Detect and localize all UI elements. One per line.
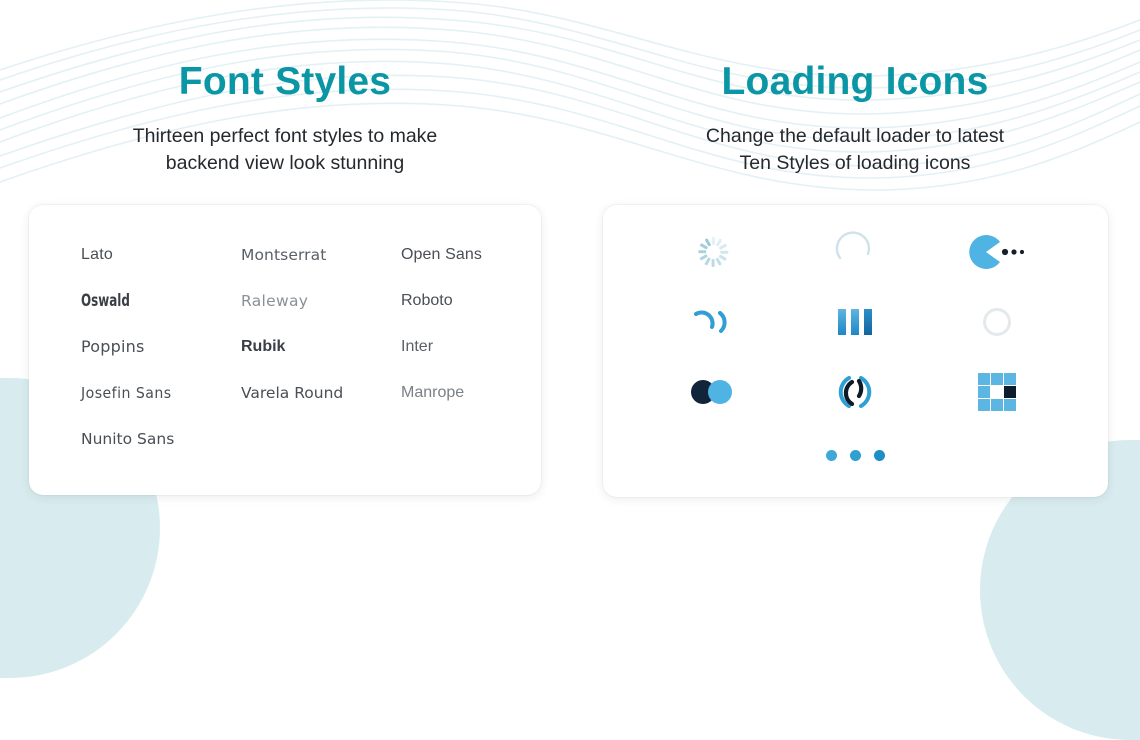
loader-option-three-dots[interactable] bbox=[603, 427, 1108, 485]
font-item-poppins[interactable]: Poppins bbox=[81, 335, 241, 359]
font-item-oswald[interactable]: Oswald bbox=[81, 289, 206, 313]
loader-list bbox=[603, 217, 1108, 427]
font-item-inter[interactable]: Inter bbox=[401, 335, 489, 359]
panel-subtitle-loading-icons: Change the default loader to latest Ten … bbox=[706, 105, 1004, 177]
loader-option-ring[interactable] bbox=[967, 292, 1027, 352]
subtitle-line-2: backend view look stunning bbox=[133, 150, 438, 177]
font-list: Lato Montserrat Open Sans Oswald Raleway… bbox=[81, 243, 489, 451]
font-item-raleway[interactable]: Raleway bbox=[241, 289, 401, 313]
parentheses-arc-icon bbox=[835, 372, 875, 412]
subtitle-line-2: Ten Styles of loading icons bbox=[706, 150, 1004, 177]
font-item-manrope[interactable]: Manrope bbox=[401, 381, 489, 405]
two-circles-icon bbox=[691, 380, 735, 404]
loader-option-grid[interactable] bbox=[967, 362, 1027, 422]
font-item-lato[interactable]: Lato bbox=[81, 243, 241, 267]
page-title-loading-icons: Loading Icons bbox=[722, 0, 989, 105]
font-item-rubik[interactable]: Rubik bbox=[241, 335, 401, 359]
font-styles-card: Lato Montserrat Open Sans Oswald Raleway… bbox=[29, 205, 541, 495]
panel-loading-icons: Loading Icons Change the default loader … bbox=[570, 0, 1140, 578]
font-item-montserrat[interactable]: Montserrat bbox=[241, 243, 401, 267]
loader-option-spinner[interactable] bbox=[683, 222, 743, 282]
pacman-icon bbox=[969, 235, 1025, 269]
subtitle-line-1: Change the default loader to latest bbox=[706, 125, 1004, 147]
font-item-roboto[interactable]: Roboto bbox=[401, 289, 489, 313]
font-item-josefin-sans[interactable]: Josefin Sans bbox=[81, 381, 231, 405]
loader-option-bars[interactable] bbox=[825, 292, 885, 352]
font-item-open-sans[interactable]: Open Sans bbox=[401, 243, 489, 267]
arc-circle-icon bbox=[835, 232, 875, 272]
three-dots-icon bbox=[826, 450, 885, 461]
font-item-nunito-sans[interactable]: Nunito Sans bbox=[81, 427, 241, 451]
loader-option-pacman[interactable] bbox=[967, 222, 1027, 282]
dual-arc-icon bbox=[690, 305, 736, 339]
loader-option-arc[interactable] bbox=[825, 222, 885, 282]
bars-icon bbox=[838, 309, 872, 335]
loader-option-parentheses[interactable] bbox=[825, 362, 885, 422]
page-root: Font Styles Thirteen perfect font styles… bbox=[0, 0, 1140, 578]
ring-outline-icon bbox=[983, 308, 1011, 336]
loader-option-dual-arc[interactable] bbox=[683, 292, 743, 352]
spinner-ticks-icon bbox=[698, 237, 728, 267]
loading-icons-card bbox=[603, 205, 1108, 497]
font-item-varela-round[interactable]: Varela Round bbox=[241, 381, 401, 405]
panel-font-styles: Font Styles Thirteen perfect font styles… bbox=[0, 0, 570, 578]
panel-subtitle-font-styles: Thirteen perfect font styles to make bac… bbox=[133, 105, 438, 177]
subtitle-line-1: Thirteen perfect font styles to make bbox=[133, 125, 438, 147]
page-title-font-styles: Font Styles bbox=[179, 0, 391, 105]
grid-squares-icon bbox=[978, 373, 1016, 411]
loader-option-two-circles[interactable] bbox=[683, 362, 743, 422]
